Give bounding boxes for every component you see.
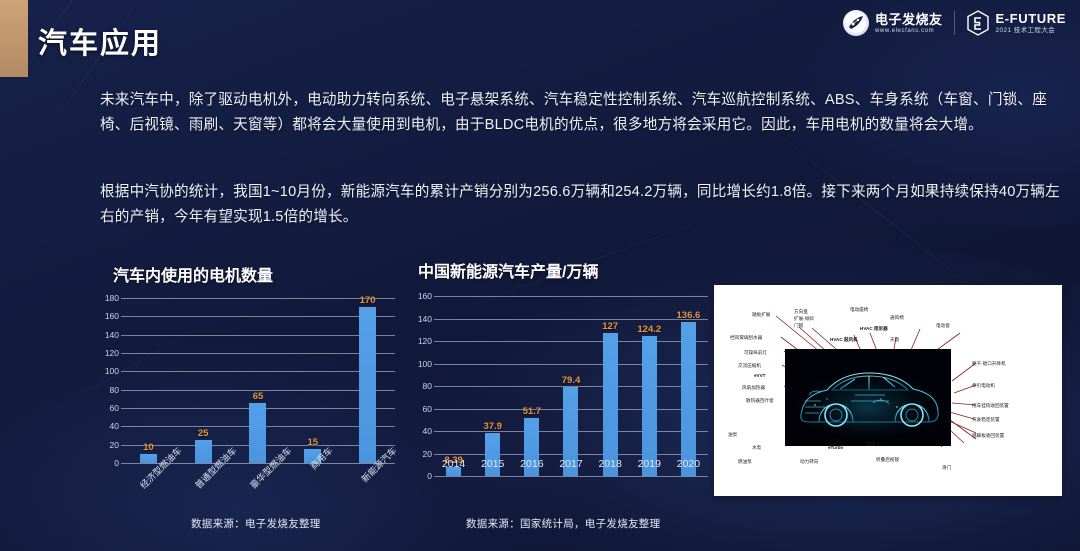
x-tick-label: 2014 bbox=[442, 458, 465, 474]
x-label-cell: 2017 bbox=[551, 458, 590, 474]
y-tick-label: 20 bbox=[423, 449, 432, 459]
car-label-radiator-shutter: 散热器百叶窗 bbox=[746, 398, 774, 404]
car-label-folding-mirror: 折叠后视镜 bbox=[876, 457, 899, 463]
x-tick-label: 2015 bbox=[481, 458, 504, 474]
bar-cell: 79.4 bbox=[551, 296, 590, 476]
y-tick-label: 120 bbox=[418, 336, 432, 346]
car-label-drive-stabilizer: 驾驶稳定装置 bbox=[972, 417, 1000, 423]
bar-value-label: 170 bbox=[360, 295, 376, 306]
chart-bars: 8.3937.951.779.4127124.2136.6 bbox=[434, 296, 708, 476]
elecfans-circuit-logo-icon bbox=[843, 10, 869, 36]
y-tick-label: 100 bbox=[105, 366, 119, 376]
bar bbox=[681, 322, 696, 476]
car-diagram-inner: 踏板扩展 方向盘 扩展-倾斜 门锁 电动座椅 通风椅 电动窗 HVAC 阻尼器 … bbox=[724, 293, 1052, 488]
x-axis-labels: 经济型燃油车普通型燃油车豪华型燃油车商用车新能源汽车 bbox=[121, 444, 395, 504]
car-label-hvac-damper: HVAC 阻尼器 bbox=[860, 326, 888, 332]
bar-cell: 65 bbox=[231, 298, 286, 463]
bar-cell: 170 bbox=[340, 298, 395, 463]
gridline bbox=[434, 476, 708, 477]
bar-value-label: 127 bbox=[602, 321, 618, 332]
car-label-mirror-xy: 镜面 XY bbox=[866, 441, 883, 447]
car-xray-image bbox=[785, 349, 951, 446]
car-label-hvac-blower: HVAC 鼓风机 bbox=[830, 337, 858, 343]
y-tick-label: 160 bbox=[105, 311, 119, 321]
car-label-power-window: 电动窗 bbox=[936, 323, 950, 329]
chart-nev-output: 中国新能源汽车产量/万辆 160140120100806040200 8.393… bbox=[408, 258, 708, 548]
x-label-cell: 2015 bbox=[473, 458, 512, 474]
car-label-sunroof: 天窗 bbox=[890, 337, 899, 343]
x-label-cell: 2018 bbox=[591, 458, 630, 474]
car-label-windshield-wiper: 挡风玻璃刮水器 bbox=[730, 335, 762, 341]
car-label-pedal-extension: 踏板扩展 bbox=[752, 312, 770, 318]
bar bbox=[642, 336, 657, 476]
bar bbox=[603, 333, 618, 476]
car-label-extend-tilt: 扩展-倾斜 bbox=[794, 316, 814, 322]
brand-name: 电子发烧友 bbox=[875, 13, 943, 26]
car-label-steering-wheel: 方向盘 bbox=[794, 309, 808, 315]
y-tick-label: 60 bbox=[423, 404, 432, 414]
car-label-fan-heater: 风扇加热器 bbox=[742, 385, 765, 391]
bar-cell: 25 bbox=[176, 298, 231, 463]
y-tick-label: 0 bbox=[427, 471, 432, 481]
car-label-steerable-headlight: 可操纵前灯 bbox=[744, 350, 767, 356]
x-tick-label: 2016 bbox=[520, 458, 543, 474]
y-axis-labels: 160140120100806040200 bbox=[408, 296, 432, 476]
bar bbox=[359, 307, 376, 463]
y-tick-label: 120 bbox=[105, 348, 119, 358]
car-label-power-seat: 电动座椅 bbox=[850, 307, 868, 313]
car-label-tow-hook-retract: 拖车挂钩收回装置 bbox=[972, 403, 1009, 409]
x-tick-label: 2018 bbox=[598, 458, 621, 474]
bar-cell: 10 bbox=[121, 298, 176, 463]
car-label-oil-pump: 油泵 bbox=[728, 432, 737, 438]
x-tick-label: 2017 bbox=[559, 458, 582, 474]
car-label-running-board-retract: 踏脚板收回装置 bbox=[972, 433, 1004, 439]
event-name: E-FUTURE bbox=[995, 12, 1066, 25]
body-paragraph-1: 未来汽车中，除了驱动电机外，电动助力转向系统、电子悬架系统、汽车稳定性控制系统、… bbox=[100, 88, 1062, 138]
body-paragraph-2: 根据中汽协的统计，我国1~10月份，新能源汽车的累计产销分别为256.6万辆和2… bbox=[100, 180, 1062, 230]
logo-group: 电子发烧友 www.elecfans.com E-FUTURE 2021 技术工… bbox=[843, 10, 1066, 36]
logo-divider bbox=[954, 11, 955, 35]
bar-cell: 37.9 bbox=[473, 296, 512, 476]
y-tick-label: 140 bbox=[418, 314, 432, 324]
bar-value-label: 124.2 bbox=[637, 324, 661, 335]
bar-value-label: 65 bbox=[253, 391, 264, 402]
car-label-water-pump: 水泵 bbox=[752, 445, 761, 451]
chart-title: 汽车内使用的电机数量 bbox=[113, 262, 395, 286]
y-tick-label: 180 bbox=[105, 293, 119, 303]
x-label-cell: 经济型燃油车 bbox=[121, 444, 176, 504]
y-tick-label: 0 bbox=[114, 458, 119, 468]
car-label-traction-motor: 牵引电动机 bbox=[972, 383, 995, 389]
chart-motor-count: 汽车内使用的电机数量 180160140120100806040200 1025… bbox=[95, 262, 395, 547]
page-title: 汽车应用 bbox=[38, 20, 162, 62]
car-label-door-lock: 门锁 bbox=[794, 323, 803, 329]
car-label-hatch-lift: 舱干-舱口升降机 bbox=[972, 361, 1006, 367]
bar-cell: 8.39 bbox=[434, 296, 473, 476]
y-tick-label: 100 bbox=[418, 359, 432, 369]
x-label-cell: 2016 bbox=[512, 458, 551, 474]
car-component-diagram: 踏板扩展 方向盘 扩展-倾斜 门锁 电动座椅 通风椅 电动窗 HVAC 阻尼器 … bbox=[714, 285, 1062, 496]
bar-cell: 124.2 bbox=[630, 296, 669, 476]
chart-source: 数据来源：电子发烧友整理 bbox=[191, 516, 321, 531]
car-label-sliding-door: 滑门 bbox=[942, 465, 951, 471]
e-future-hex-icon bbox=[967, 10, 989, 36]
bar-cell: 51.7 bbox=[512, 296, 551, 476]
brand-url: www.elecfans.com bbox=[875, 28, 943, 34]
bar-value-label: 79.4 bbox=[562, 375, 581, 386]
bar-value-label: 25 bbox=[198, 428, 209, 439]
chart-source: 数据来源：国家统计局，电子发烧友整理 bbox=[466, 516, 660, 531]
chart-title: 中国新能源汽车产量/万辆 bbox=[418, 258, 708, 282]
accent-bar bbox=[0, 0, 28, 77]
y-tick-label: 140 bbox=[105, 330, 119, 340]
bar-value-label: 51.7 bbox=[523, 406, 542, 417]
car-label-power-steering: 动力转向 bbox=[800, 459, 818, 465]
y-tick-label: 80 bbox=[110, 385, 119, 395]
event-logo: E-FUTURE 2021 技术工程大会 bbox=[967, 10, 1066, 36]
x-tick-label: 2020 bbox=[677, 458, 700, 474]
slide-root: 汽车应用 电子发烧友 www.elecfans.com bbox=[0, 0, 1080, 551]
brand-logo: 电子发烧友 www.elecfans.com bbox=[843, 10, 943, 36]
y-tick-label: 40 bbox=[110, 421, 119, 431]
chart-plot-area: 160140120100806040200 8.3937.951.779.412… bbox=[408, 296, 708, 476]
car-label-eturbo: eTurbo bbox=[828, 445, 843, 451]
car-label-evvt: eVVT bbox=[754, 373, 766, 379]
car-label-ac-compressor: 交流压缩机 bbox=[738, 363, 761, 369]
chart-plot-area: 180160140120100806040200 10256515170 bbox=[95, 298, 395, 463]
y-tick-label: 80 bbox=[423, 381, 432, 391]
y-tick-label: 20 bbox=[110, 440, 119, 450]
x-label-cell: 2019 bbox=[630, 458, 669, 474]
y-tick-label: 40 bbox=[423, 426, 432, 436]
x-axis-labels: 2014201520162017201820192020 bbox=[434, 458, 708, 474]
car-label-fuel-pump: 燃油泵 bbox=[738, 459, 752, 465]
y-tick-label: 60 bbox=[110, 403, 119, 413]
bar-cell: 136.6 bbox=[669, 296, 708, 476]
bar-cell: 15 bbox=[285, 298, 340, 463]
x-label-cell: 2014 bbox=[434, 458, 473, 474]
car-label-ventilated-seat: 通风椅 bbox=[890, 315, 904, 321]
bar-cell: 127 bbox=[591, 296, 630, 476]
x-label-cell: 2020 bbox=[669, 458, 708, 474]
bar-value-label: 136.6 bbox=[677, 310, 701, 321]
x-tick-label: 2019 bbox=[638, 458, 661, 474]
y-axis-labels: 180160140120100806040200 bbox=[95, 298, 119, 463]
y-tick-label: 160 bbox=[418, 291, 432, 301]
event-subtitle: 2021 技术工程大会 bbox=[995, 28, 1066, 35]
chart-bars: 10256515170 bbox=[121, 298, 395, 463]
bar-value-label: 37.9 bbox=[483, 421, 502, 432]
